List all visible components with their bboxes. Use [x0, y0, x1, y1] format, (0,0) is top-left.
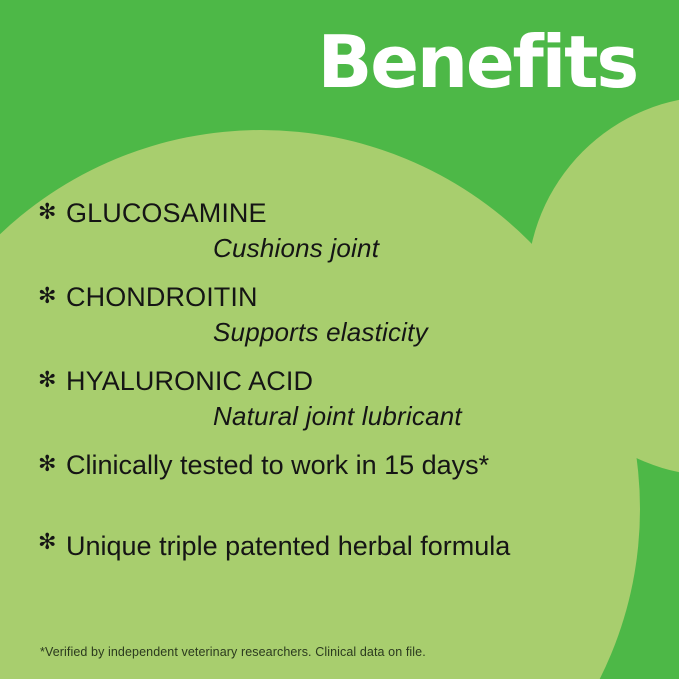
- flower-asterisk-icon: ✻: [38, 280, 66, 314]
- benefits-list: ✻ GLUCOSAMINE Cushions joint ✻ CHONDROIT…: [38, 196, 638, 582]
- list-item: ✻ Unique triple patented herbal formula: [38, 526, 638, 566]
- flower-asterisk-icon: ✻: [38, 526, 66, 560]
- flower-asterisk-icon: ✻: [38, 448, 66, 482]
- list-item-row: ✻ Clinically tested to work in 15 days*: [38, 448, 638, 482]
- list-item-subtext: Supports elasticity: [213, 316, 638, 348]
- list-item-label: GLUCOSAMINE: [66, 196, 638, 230]
- list-item: ✻ HYALURONIC ACID Natural joint lubrican…: [38, 364, 638, 432]
- footnote: *Verified by independent veterinary rese…: [40, 644, 426, 660]
- list-item-row: ✻ Unique triple patented herbal formula: [38, 526, 638, 566]
- page-title-container: Benefits: [0, 26, 679, 99]
- list-item: ✻ GLUCOSAMINE Cushions joint: [38, 196, 638, 264]
- list-item-subtext: Cushions joint: [213, 232, 638, 264]
- list-item: ✻ Clinically tested to work in 15 days*: [38, 448, 638, 482]
- list-item-label: HYALURONIC ACID: [66, 364, 638, 398]
- list-item: ✻ CHONDROITIN Supports elasticity: [38, 280, 638, 348]
- page-title: Benefits: [318, 26, 637, 99]
- list-item-row: ✻ CHONDROITIN: [38, 280, 638, 314]
- list-item-label: Clinically tested to work in 15 days*: [66, 448, 638, 482]
- list-item-subtext: Natural joint lubricant: [213, 400, 638, 432]
- list-item-label: CHONDROITIN: [66, 280, 638, 314]
- list-item-label: Unique triple patented herbal formula: [66, 526, 638, 566]
- flower-asterisk-icon: ✻: [38, 364, 66, 398]
- flower-asterisk-icon: ✻: [38, 196, 66, 230]
- list-item-row: ✻ HYALURONIC ACID: [38, 364, 638, 398]
- benefits-poster: Benefits ✻ GLUCOSAMINE Cushions joint ✻ …: [0, 0, 679, 679]
- list-item-row: ✻ GLUCOSAMINE: [38, 196, 638, 230]
